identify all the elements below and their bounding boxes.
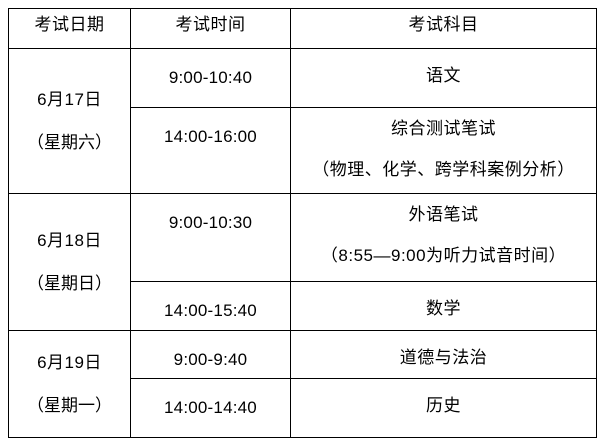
subject-content: 历史	[291, 379, 596, 416]
subject-line-primary: 历史	[291, 395, 596, 416]
date-line-weekday: （星期日）	[27, 273, 112, 294]
subject-cell: 道德与法治	[291, 331, 597, 379]
subject-content: 道德与法治	[291, 331, 596, 368]
subject-cell: 数学	[291, 282, 597, 331]
subject-line-primary: 外语笔试	[291, 204, 596, 225]
date-cell-saturday: 6月17日 （星期六）	[9, 49, 131, 194]
subject-content: 数学	[291, 282, 596, 319]
subject-line-primary: 语文	[291, 65, 596, 86]
header-cell-date: 考试日期	[9, 9, 131, 49]
time-cell: 14:00-15:40	[131, 282, 291, 331]
subject-content: 综合测试笔试 （物理、化学、跨学科案例分析）	[291, 108, 596, 181]
subject-cell: 外语笔试 （8:55—9:00为听力试音时间）	[291, 194, 597, 282]
subject-cell: 综合测试笔试 （物理、化学、跨学科案例分析）	[291, 108, 597, 194]
time-cell: 9:00-10:40	[131, 49, 291, 108]
header-cell-time: 考试时间	[131, 9, 291, 49]
date-cell-monday: 6月19日 （星期一）	[9, 331, 131, 438]
subject-cell: 历史	[291, 379, 597, 438]
subject-line-primary: 综合测试笔试	[291, 118, 596, 139]
table-row: 6月18日 （星期日） 9:00-10:30 外语笔试 （8:55—9:00为听…	[9, 194, 597, 282]
time-cell: 9:00-9:40	[131, 331, 291, 379]
time-cell: 14:00-14:40	[131, 379, 291, 438]
date-line-weekday: （星期一）	[27, 395, 112, 416]
subject-line-primary: 数学	[291, 298, 596, 319]
table-row: 6月19日 （星期一） 9:00-9:40 道德与法治	[9, 331, 597, 379]
date-cell-content: 6月17日 （星期六）	[9, 49, 130, 193]
date-cell-content: 6月18日 （星期日）	[9, 194, 130, 330]
date-line-day: 6月17日	[37, 89, 102, 110]
header-label-subject: 考试科目	[291, 9, 596, 35]
header-label-date: 考试日期	[9, 9, 130, 35]
subject-content: 外语笔试 （8:55—9:00为听力试音时间）	[291, 194, 596, 267]
time-value: 9:00-9:40	[131, 331, 290, 370]
time-value: 9:00-10:40	[131, 49, 290, 88]
date-line-weekday: （星期六）	[27, 132, 112, 153]
subject-line-secondary: （8:55—9:00为听力试音时间）	[291, 245, 596, 266]
date-cell-content: 6月19日 （星期一）	[9, 331, 130, 437]
time-value: 9:00-10:30	[131, 194, 290, 233]
date-line-day: 6月18日	[37, 230, 102, 251]
time-value: 14:00-15:40	[131, 282, 290, 321]
time-cell: 14:00-16:00	[131, 108, 291, 194]
time-value: 14:00-14:40	[131, 379, 290, 418]
date-line-day: 6月19日	[37, 352, 102, 373]
table-header-row: 考试日期 考试时间 考试科目	[9, 9, 597, 49]
time-value: 14:00-16:00	[131, 108, 290, 147]
subject-line-primary: 道德与法治	[291, 347, 596, 368]
date-cell-sunday: 6月18日 （星期日）	[9, 194, 131, 331]
subject-line-secondary: （物理、化学、跨学科案例分析）	[291, 159, 596, 180]
subject-cell: 语文	[291, 49, 597, 108]
table-row: 6月17日 （星期六） 9:00-10:40 语文	[9, 49, 597, 108]
time-cell: 9:00-10:30	[131, 194, 291, 282]
exam-schedule-table: 考试日期 考试时间 考试科目 6月17日 （星期六） 9:00-10:40	[8, 8, 597, 438]
header-label-time: 考试时间	[131, 9, 290, 35]
header-cell-subject: 考试科目	[291, 9, 597, 49]
subject-content: 语文	[291, 49, 596, 86]
